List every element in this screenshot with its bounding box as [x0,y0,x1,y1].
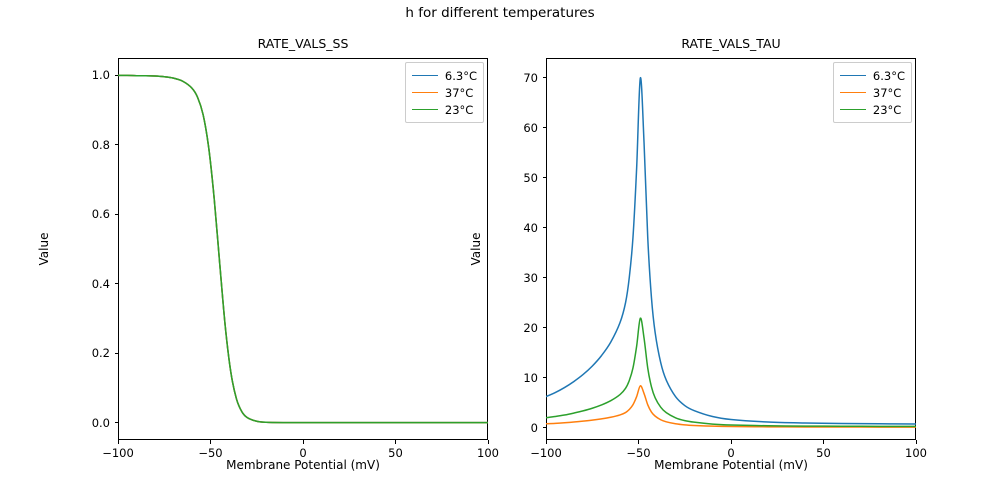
legend-entry-label: 23°C [445,103,473,117]
legend-entry-3[interactable]: 23°C [412,101,477,118]
series-line-1 [546,78,916,424]
x-tick-mark [731,440,732,444]
x-tick-mark [546,440,547,444]
x-tick-mark [638,440,639,444]
y-tick-label: 50 [498,171,538,185]
axes-title-left: RATE_VALS_SS [118,36,488,51]
x-tick-mark [303,440,304,444]
subplot-rate-vals-tau: RATE_VALS_TAU −100−500501000102030405060… [546,58,916,440]
y-tick-mark [543,427,547,428]
x-tick-mark [118,440,119,444]
legend-entry-2[interactable]: 37°C [412,84,477,101]
y-tick-mark [115,422,119,423]
y-axis-label-left: Value [37,233,51,266]
legend-entry-3[interactable]: 23°C [840,101,905,118]
axes-title-right: RATE_VALS_TAU [546,36,916,51]
series-line-1 [118,75,488,422]
y-tick-mark [543,377,547,378]
x-tick-mark [916,440,917,444]
legend-entry-label: 37°C [445,86,473,100]
legend-entry-2[interactable]: 37°C [840,84,905,101]
legend-entry-1[interactable]: 6.3°C [412,67,477,84]
x-tick-mark [488,440,489,444]
x-tick-mark [823,440,824,444]
matplotlib-figure: h for different temperatures RATE_VALS_S… [0,0,1000,500]
y-tick-mark [543,177,547,178]
legend-right[interactable]: 6.3°C37°C23°C [833,62,912,123]
legend-entry-label: 37°C [873,86,901,100]
y-tick-label: 0.4 [70,277,110,291]
legend-swatch-line [412,92,438,93]
legend-entry-label: 23°C [873,103,901,117]
legend-swatch-line [840,92,866,93]
y-tick-mark [115,283,119,284]
series-line-2 [546,386,916,427]
y-tick-label: 0.0 [70,416,110,430]
x-axis-label-left: Membrane Potential (mV) [118,458,488,472]
legend-swatch-line [412,75,438,76]
y-tick-label: 60 [498,121,538,135]
y-tick-mark [543,127,547,128]
subplot-rate-vals-ss: RATE_VALS_SS −100−500501000.00.20.40.60.… [118,58,488,440]
y-tick-mark [543,277,547,278]
y-tick-label: 0 [498,421,538,435]
series-line-3 [118,75,488,422]
y-tick-mark [115,353,119,354]
y-tick-label: 1.0 [70,68,110,82]
legend-left[interactable]: 6.3°C37°C23°C [405,62,484,123]
y-tick-mark [115,75,119,76]
y-tick-label: 0.6 [70,207,110,221]
legend-swatch-line [840,109,866,110]
y-tick-mark [543,227,547,228]
legend-entry-1[interactable]: 6.3°C [840,67,905,84]
y-tick-label: 20 [498,321,538,335]
y-tick-mark [543,77,547,78]
legend-swatch-line [412,109,438,110]
y-tick-label: 0.8 [70,138,110,152]
y-tick-label: 10 [498,371,538,385]
series-line-3 [546,318,916,426]
y-tick-mark [115,144,119,145]
y-axis-label-right: Value [469,233,483,266]
figure-suptitle: h for different temperatures [0,5,1000,21]
y-tick-label: 0.2 [70,346,110,360]
y-tick-label: 40 [498,221,538,235]
y-tick-mark [115,214,119,215]
x-axis-label-right: Membrane Potential (mV) [546,458,916,472]
y-tick-mark [543,327,547,328]
x-tick-mark [210,440,211,444]
legend-entry-label: 6.3°C [445,69,477,83]
legend-entry-label: 6.3°C [873,69,905,83]
x-tick-mark [395,440,396,444]
series-line-2 [118,75,488,422]
y-tick-label: 30 [498,271,538,285]
y-tick-label: 70 [498,71,538,85]
legend-swatch-line [840,75,866,76]
